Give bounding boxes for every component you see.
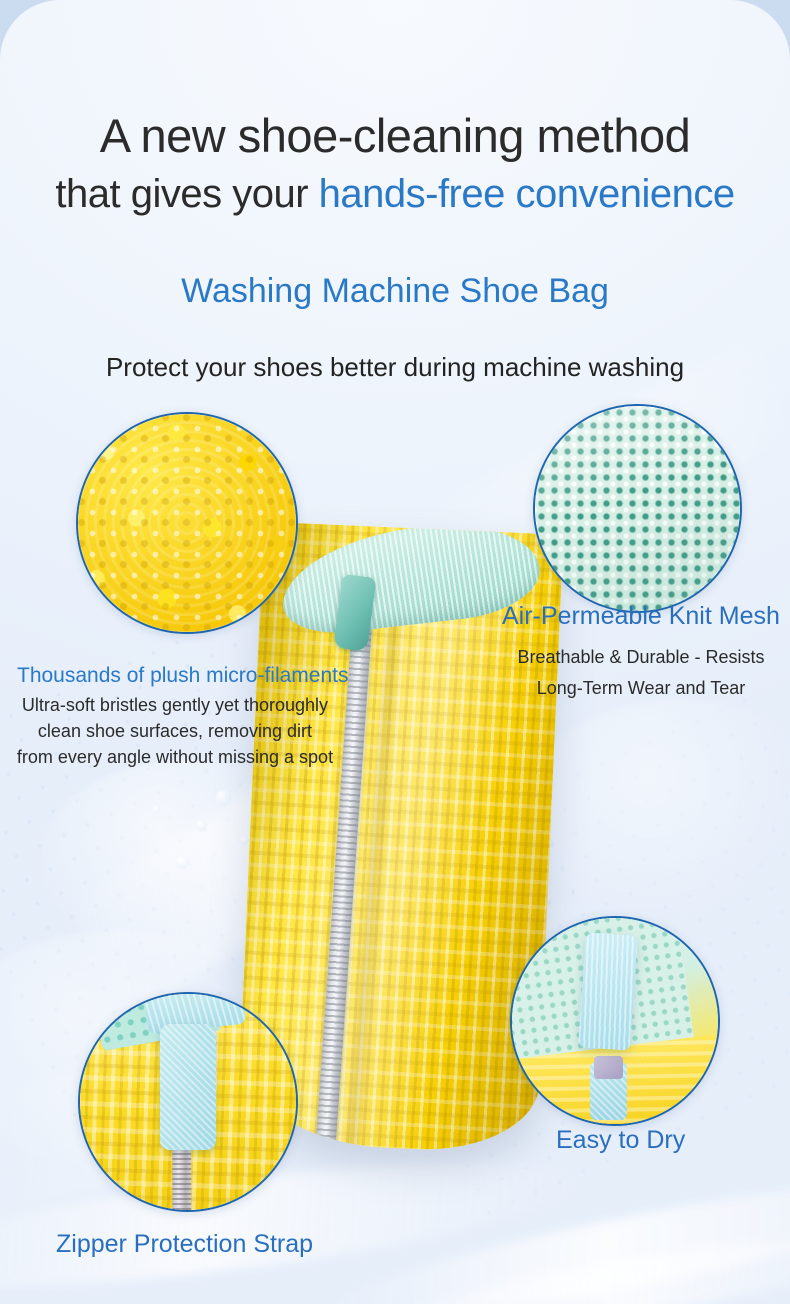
page-tagline: Protect your shoes better during machine… bbox=[0, 352, 790, 383]
callout-desc-line3: from every angle without missing a spot bbox=[0, 744, 350, 770]
strap-scene bbox=[80, 994, 296, 1210]
knit-mesh-texture bbox=[535, 406, 740, 611]
callout-description-micro-filaments: Ultra-soft bristles gently yet thoroughl… bbox=[0, 692, 350, 770]
callout-desc-line2: Long-Term Wear and Tear bbox=[496, 673, 786, 704]
callout-title-easy-to-dry: Easy to Dry bbox=[556, 1126, 685, 1155]
callout-desc-line2: clean shoe surfaces, removing dirt bbox=[0, 718, 350, 744]
knit-mesh-circle-icon bbox=[533, 404, 742, 613]
callout-desc-line1: Ultra-soft bristles gently yet thoroughl… bbox=[0, 692, 350, 718]
page-headline-line2: that gives your hands-free convenience bbox=[0, 172, 790, 217]
headline-prefix: that gives your bbox=[55, 172, 318, 216]
headline-accent: hands-free convenience bbox=[319, 172, 735, 216]
product-name: Washing Machine Shoe Bag bbox=[0, 272, 790, 311]
callout-description-knit-mesh: Breathable & Durable - Resists Long-Term… bbox=[496, 642, 786, 704]
callout-desc-line1: Breathable & Durable - Resists bbox=[496, 642, 786, 673]
callout-title-zipper-protection: Zipper Protection Strap bbox=[56, 1230, 313, 1259]
bristle-texture bbox=[76, 412, 298, 634]
strap-band bbox=[160, 1024, 216, 1149]
easy-dry-circle-icon bbox=[510, 916, 720, 1126]
callout-title-knit-mesh: Air-Permeable Knit Mesh bbox=[502, 602, 780, 631]
product-marketing-page: A new shoe-cleaning method that gives yo… bbox=[0, 0, 790, 1304]
page-headline-line1: A new shoe-cleaning method bbox=[0, 108, 790, 163]
dry-zipper-pull bbox=[594, 1056, 623, 1079]
bristles-circle-icon bbox=[76, 412, 298, 634]
zipper-strap-circle-icon bbox=[78, 992, 298, 1212]
dry-hanging-strap bbox=[578, 933, 637, 1052]
callout-title-micro-filaments: Thousands of plush micro-filaments bbox=[17, 664, 348, 688]
dry-scene bbox=[512, 918, 718, 1124]
